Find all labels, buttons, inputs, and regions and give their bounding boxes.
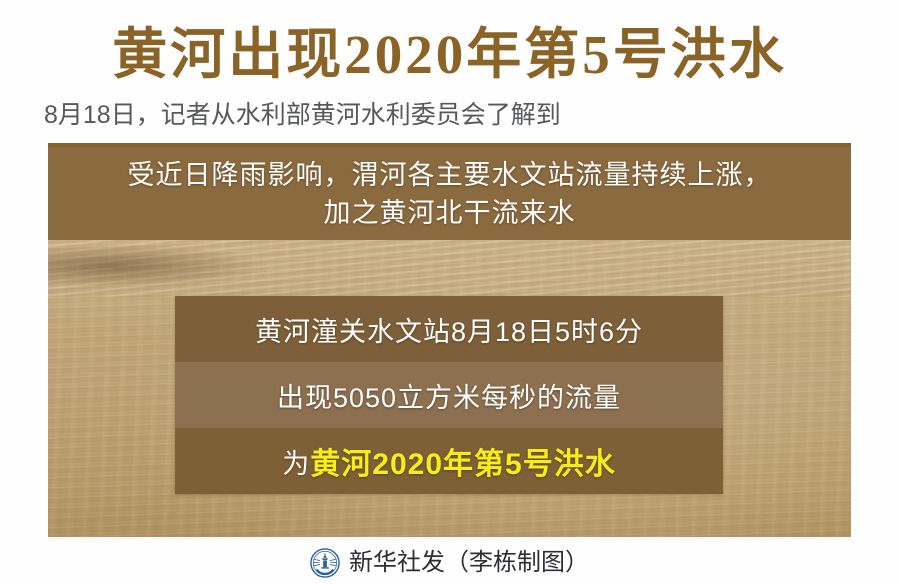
footer: 新华社发（李栋制图） [0,541,899,584]
caption-line-2: 加之黄河北干流来水 [324,194,576,232]
stat-box: 黄河潼关水文站8月18日5时6分 出现5050立方米每秒的流量 为黄河2020年… [175,296,723,494]
xinhua-news-agency-logo-icon [310,548,340,578]
stat-row-text: 出现5050立方米每秒的流量 [277,376,621,415]
stat-row: 出现5050立方米每秒的流量 [175,362,723,428]
river-photo: 受近日降雨影响，渭河各主要水文站流量持续上涨， 加之黄河北干流来水 黄河潼关水文… [48,147,851,537]
stat-row-text: 黄河潼关水文站8月18日5时6分 [255,310,643,349]
infographic-page: 黄河出现2020年第5号洪水 8月18日，记者从水利部黄河水利委员会了解到 受近… [0,0,899,584]
caption-line-1: 受近日降雨影响，渭河各主要水文站流量持续上涨， [128,156,772,194]
stat-row: 黄河潼关水文站8月18日5时6分 [175,296,723,362]
stat-row: 为黄河2020年第5号洪水 [175,428,723,494]
credit-text: 新华社发（李栋制图） [349,548,589,578]
page-title: 黄河出现2020年第5号洪水 [0,22,899,88]
page-subtitle: 8月18日，记者从水利部黄河水利委员会了解到 [44,98,854,132]
caption-band: 受近日降雨影响，渭河各主要水文站流量持续上涨， 加之黄河北干流来水 [48,147,851,240]
stat-row-text: 为 [282,442,310,481]
stat-row-highlight: 黄河2020年第5号洪水 [310,439,615,483]
